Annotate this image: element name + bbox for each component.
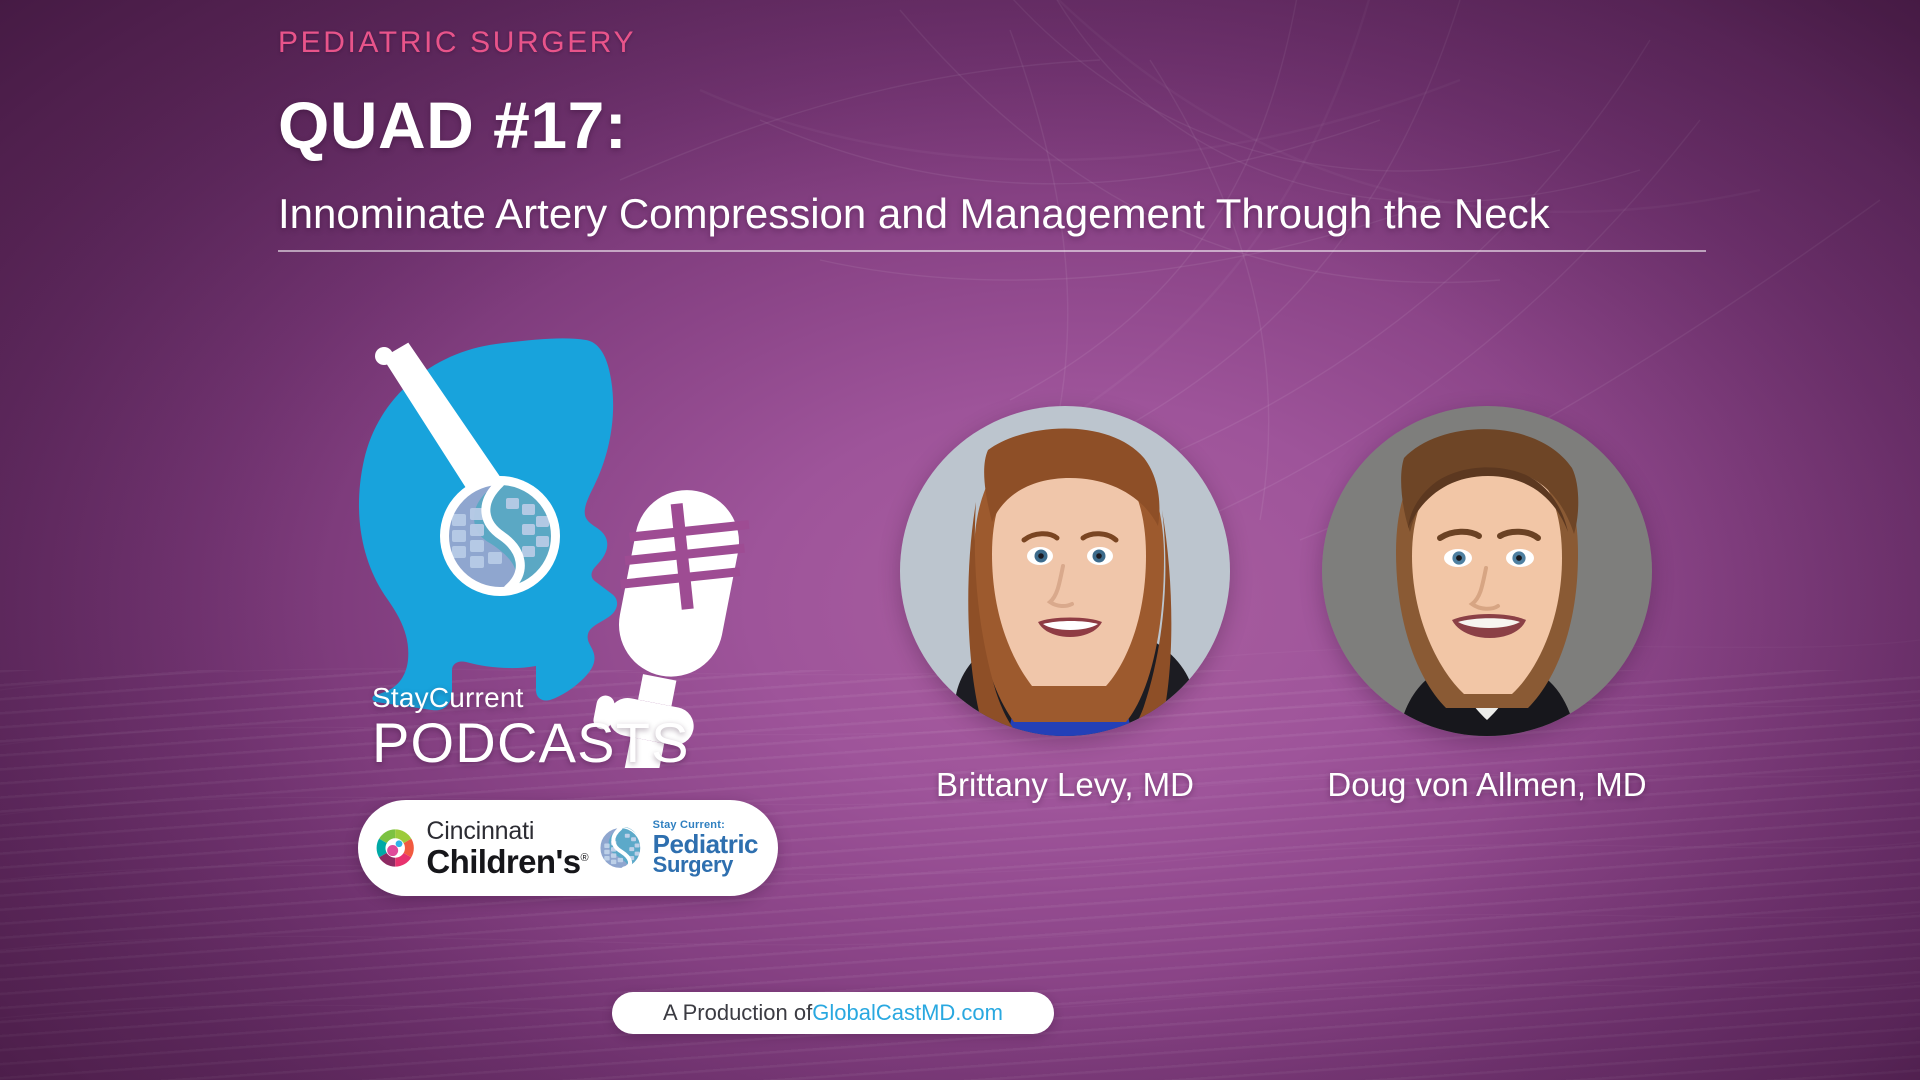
logo-line-podcasts: PODCASTS — [372, 714, 690, 773]
cincinnati-childrens-wordmark: Cincinnati Children's® — [426, 819, 588, 878]
speaker-photo-brittany-levy — [900, 406, 1230, 736]
production-credit-pill[interactable]: A Production of GlobalCastMD.com — [612, 992, 1054, 1034]
slide-canvas: PEDIATRIC SURGERY QUAD #17: Innominate A… — [0, 0, 1920, 1080]
category-eyebrow: PEDIATRIC SURGERY — [278, 26, 636, 60]
page-title: QUAD #17: — [278, 92, 627, 158]
production-prefix: A Production of — [663, 1000, 812, 1026]
staycurrent-globe-icon — [598, 809, 643, 887]
avatar — [900, 406, 1230, 736]
podcast-logo-wordmark: StayCurrent PODCASTS — [372, 684, 690, 773]
subtitle-block: Innominate Artery Compression and Manage… — [278, 190, 1738, 252]
speaker-card: Brittany Levy, MD — [900, 406, 1230, 804]
registered-mark-icon: ® — [580, 852, 588, 864]
speaker-card: Doug von Allmen, MD — [1322, 406, 1652, 804]
globalcastmd-link[interactable]: GlobalCastMD.com — [812, 1000, 1003, 1026]
page-subtitle: Innominate Artery Compression and Manage… — [278, 190, 1738, 238]
subtitle-divider — [278, 250, 1706, 252]
cincinnati-childrens-badge[interactable]: Cincinnati Children's® Stay Current: — [358, 800, 778, 896]
cincinnati-childrens-pinwheel-icon — [374, 811, 416, 885]
speaker-photo-doug-von-allmen — [1322, 406, 1652, 736]
avatar — [1322, 406, 1652, 736]
speaker-name: Brittany Levy, MD — [900, 766, 1230, 804]
speaker-name: Doug von Allmen, MD — [1322, 766, 1652, 804]
pediatric-surgery-series-wordmark: Stay Current: Pediatric Surgery — [653, 820, 758, 876]
cch-line-childrens: Children's® — [426, 845, 588, 878]
logo-line-staycurrent: StayCurrent — [372, 684, 690, 712]
cch-line-cincinnati: Cincinnati — [426, 819, 588, 844]
